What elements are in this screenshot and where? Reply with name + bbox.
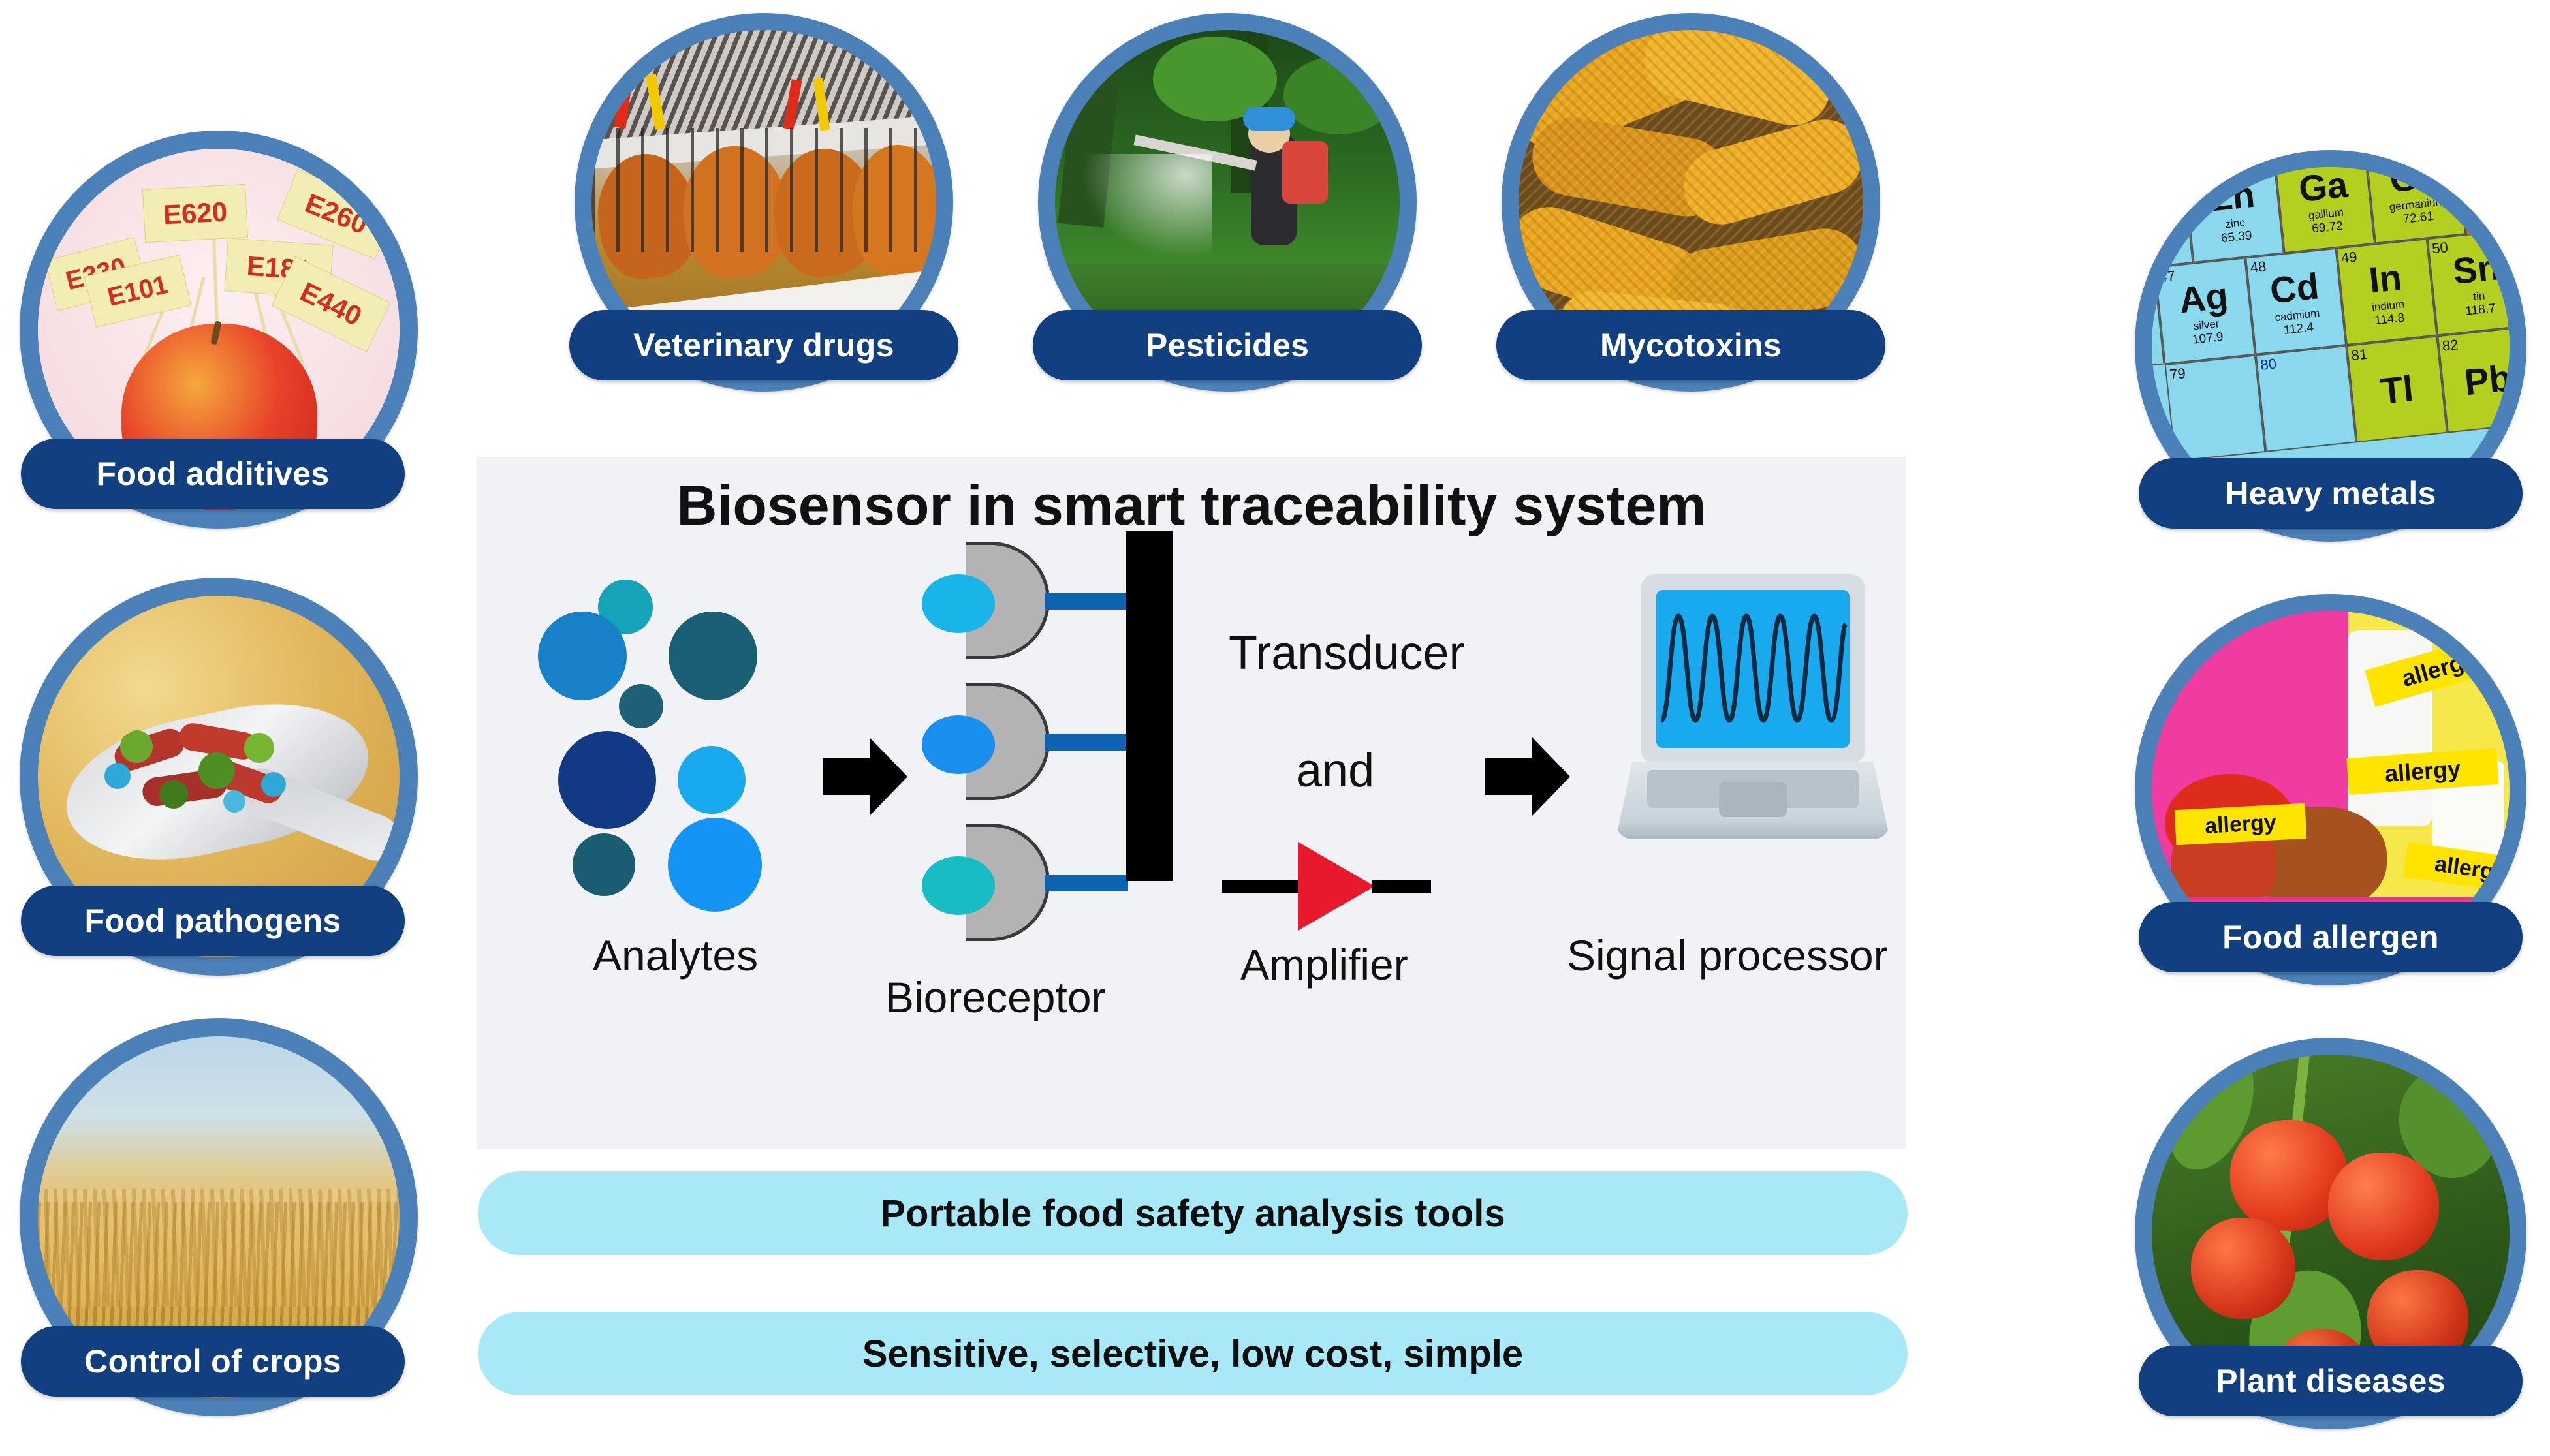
- periodic-cell: 31 Ga gallium 69.72: [2274, 167, 2375, 253]
- periodic-cell: 50 Sn tin 118.7: [2427, 229, 2510, 336]
- analyte-dot: [669, 612, 757, 700]
- periodic-cell: 49 In indium 114.8: [2336, 238, 2437, 345]
- receptor-wire: [1045, 875, 1128, 891]
- category-food-allergen[interactable]: allergy allergy allergy allergy Food all…: [2135, 594, 2526, 985]
- banner-sensitive-selective: Sensitive, selective, low cost, simple: [478, 1312, 1908, 1395]
- analyte-dot: [678, 746, 746, 814]
- flow-arrow-2: [1485, 737, 1570, 816]
- category-food-additives[interactable]: E330 E101 E620 E181 E260 E440 Food addit…: [20, 131, 418, 529]
- allergy-tag: allergy: [2175, 803, 2307, 845]
- category-plant-diseases[interactable]: Plant diseases: [2135, 1038, 2526, 1429]
- e-number-tag: E620: [142, 184, 248, 243]
- page-title: Biosensor in smart traceability system: [477, 474, 1906, 538]
- category-veterinary-drugs[interactable]: Veterinary drugs: [575, 13, 953, 392]
- category-pesticides[interactable]: Pesticides: [1038, 13, 1417, 392]
- flow-arrow-1: [823, 737, 907, 816]
- transducer-label: Transducer: [1229, 627, 1464, 680]
- waveform-icon: [1656, 590, 1850, 748]
- analyte-dot: [538, 612, 627, 700]
- signal-processor-laptop-icon: [1616, 574, 1890, 861]
- analyte-dot: [573, 833, 635, 896]
- category-food-pathogens[interactable]: Food pathogens: [20, 578, 418, 976]
- category-label-veterinary-drugs[interactable]: Veterinary drugs: [569, 310, 958, 380]
- periodic-cell: 82 Pb: [2437, 326, 2510, 433]
- analytes-group: [548, 568, 796, 920]
- analyte-dot: [558, 731, 656, 829]
- and-label: and: [1296, 744, 1374, 798]
- bound-analyte: [922, 574, 995, 633]
- periodic-cell: 48 Cd cadmium 112.4: [2245, 248, 2346, 355]
- bound-analyte: [922, 856, 995, 915]
- category-label-plant-diseases[interactable]: Plant diseases: [2139, 1346, 2523, 1416]
- bioreceptor-group: [927, 542, 1142, 946]
- analyte-dot: [619, 684, 663, 728]
- analytes-label: Analytes: [593, 931, 758, 980]
- receptor-wire: [1045, 734, 1128, 751]
- amplifier-triangle-icon: [1298, 842, 1375, 931]
- transducer-bar: [1126, 531, 1173, 881]
- banner-portable-tools: Portable food safety analysis tools: [478, 1171, 1908, 1255]
- receptor-wire: [1045, 593, 1128, 610]
- category-label-food-allergen[interactable]: Food allergen: [2139, 902, 2523, 972]
- bioreceptor-label: Bioreceptor: [885, 972, 1106, 1022]
- category-label-control-of-crops[interactable]: Control of crops: [21, 1326, 405, 1397]
- bound-analyte: [922, 715, 995, 774]
- signal-processor-label: Signal processor: [1567, 931, 1888, 980]
- amplifier-label: Amplifier: [1240, 940, 1408, 989]
- category-label-mycotoxins[interactable]: Mycotoxins: [1496, 310, 1885, 380]
- amplifier-wire-right: [1372, 880, 1431, 893]
- category-label-pesticides[interactable]: Pesticides: [1033, 310, 1422, 380]
- periodic-cell: 30 Zn zinc 65.39: [2183, 167, 2284, 263]
- periodic-cell: 32 Ge germanium 72.61: [2365, 167, 2466, 244]
- periodic-cell: 80: [2256, 345, 2357, 452]
- category-label-heavy-metals[interactable]: Heavy metals: [2139, 458, 2523, 529]
- category-heavy-metals[interactable]: 29 Cu copper 63.55 30 Zn zinc 65.39 31 G…: [2135, 150, 2526, 542]
- category-label-food-pathogens[interactable]: Food pathogens: [21, 886, 405, 956]
- biosensor-diagram-panel: Biosensor in smart traceability system A…: [477, 457, 1906, 1149]
- periodic-cell: 81 Tl: [2346, 335, 2448, 442]
- category-mycotoxins[interactable]: Mycotoxins: [1502, 13, 1880, 392]
- analyte-dot: [668, 818, 762, 912]
- category-label-food-additives[interactable]: Food additives: [21, 439, 405, 509]
- category-control-of-crops[interactable]: Control of crops: [20, 1018, 418, 1416]
- periodic-cell: 79: [2165, 355, 2266, 462]
- periodic-cell: 47 Ag silver 107.9: [2154, 258, 2256, 365]
